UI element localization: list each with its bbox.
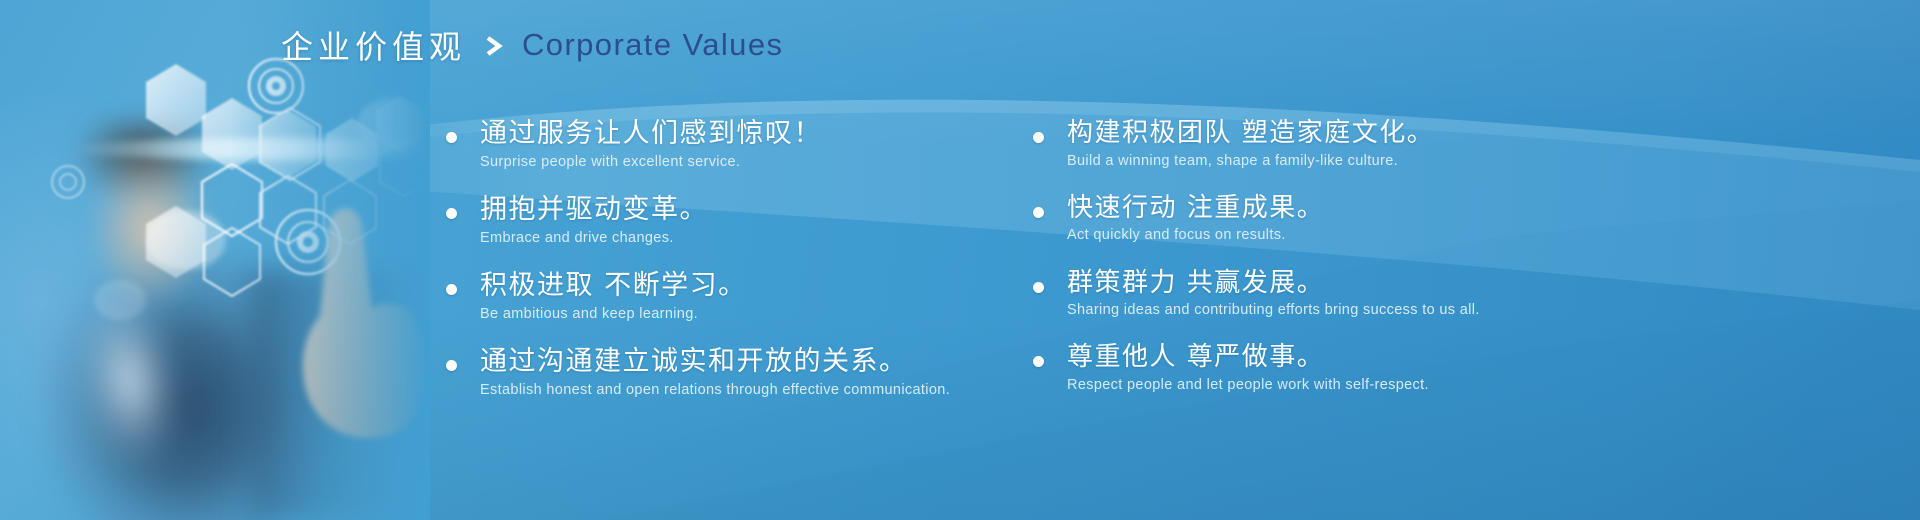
bullet-icon bbox=[1033, 356, 1044, 367]
chevron-right-icon bbox=[484, 35, 504, 57]
value-text-cn: 拥抱并驱动变革。 bbox=[480, 194, 1058, 226]
values-columns: 通过服务让人们感到惊叹！ Surprise people with excell… bbox=[0, 118, 1920, 418]
value-text-cn: 构建积极团队 塑造家庭文化。 bbox=[1067, 118, 1905, 149]
bullet-icon bbox=[446, 284, 457, 295]
list-item: 通过沟通建立诚实和开放的关系。 Establish honest and ope… bbox=[438, 346, 1058, 399]
value-text-en: Embrace and drive changes. bbox=[480, 229, 1058, 247]
value-text-en: Build a winning team, shape a family-lik… bbox=[1067, 152, 1905, 170]
value-text-cn: 快速行动 注重成果。 bbox=[1067, 193, 1905, 224]
bullet-icon bbox=[446, 132, 457, 143]
corporate-values-banner: 企业价值观 Corporate Values 通过服务让人们感到惊叹！ Surp… bbox=[0, 0, 1920, 520]
list-item: 快速行动 注重成果。 Act quickly and focus on resu… bbox=[1025, 193, 1905, 245]
value-text-cn: 群策群力 共赢发展。 bbox=[1067, 268, 1905, 299]
value-text-en: Sharing ideas and contributing efforts b… bbox=[1067, 301, 1905, 319]
page-title-cn: 企业价值观 bbox=[281, 22, 466, 68]
banner-header: 企业价值观 Corporate Values bbox=[281, 22, 783, 68]
list-item: 构建积极团队 塑造家庭文化。 Build a winning team, sha… bbox=[1025, 118, 1905, 170]
value-text-en: Establish honest and open relations thro… bbox=[480, 381, 1058, 399]
bullet-icon bbox=[1033, 132, 1044, 143]
list-item: 尊重他人 尊严做事。 Respect people and let people… bbox=[1025, 342, 1905, 394]
value-text-cn: 尊重他人 尊严做事。 bbox=[1067, 342, 1905, 373]
value-text-en: Respect people and let people work with … bbox=[1067, 376, 1905, 394]
list-item: 拥抱并驱动变革。 Embrace and drive changes. bbox=[438, 194, 1058, 247]
bullet-icon bbox=[446, 360, 457, 371]
value-text-cn: 通过沟通建立诚实和开放的关系。 bbox=[480, 346, 1058, 378]
list-item: 通过服务让人们感到惊叹！ Surprise people with excell… bbox=[438, 118, 1058, 171]
bullet-icon bbox=[1033, 207, 1044, 218]
list-item: 积极进取 不断学习。 Be ambitious and keep learnin… bbox=[438, 270, 1058, 323]
value-text-cn: 积极进取 不断学习。 bbox=[480, 270, 1058, 302]
bullet-icon bbox=[446, 208, 457, 219]
values-column-left: 通过服务让人们感到惊叹！ Surprise people with excell… bbox=[438, 118, 1058, 422]
page-title-en: Corporate Values bbox=[522, 27, 783, 63]
bullet-icon bbox=[1033, 282, 1044, 293]
list-item: 群策群力 共赢发展。 Sharing ideas and contributin… bbox=[1025, 268, 1905, 320]
value-text-en: Surprise people with excellent service. bbox=[480, 153, 1058, 171]
value-text-en: Act quickly and focus on results. bbox=[1067, 226, 1905, 244]
values-column-right: 构建积极团队 塑造家庭文化。 Build a winning team, sha… bbox=[1025, 118, 1905, 417]
value-text-en: Be ambitious and keep learning. bbox=[480, 305, 1058, 323]
value-text-cn: 通过服务让人们感到惊叹！ bbox=[480, 118, 1058, 150]
